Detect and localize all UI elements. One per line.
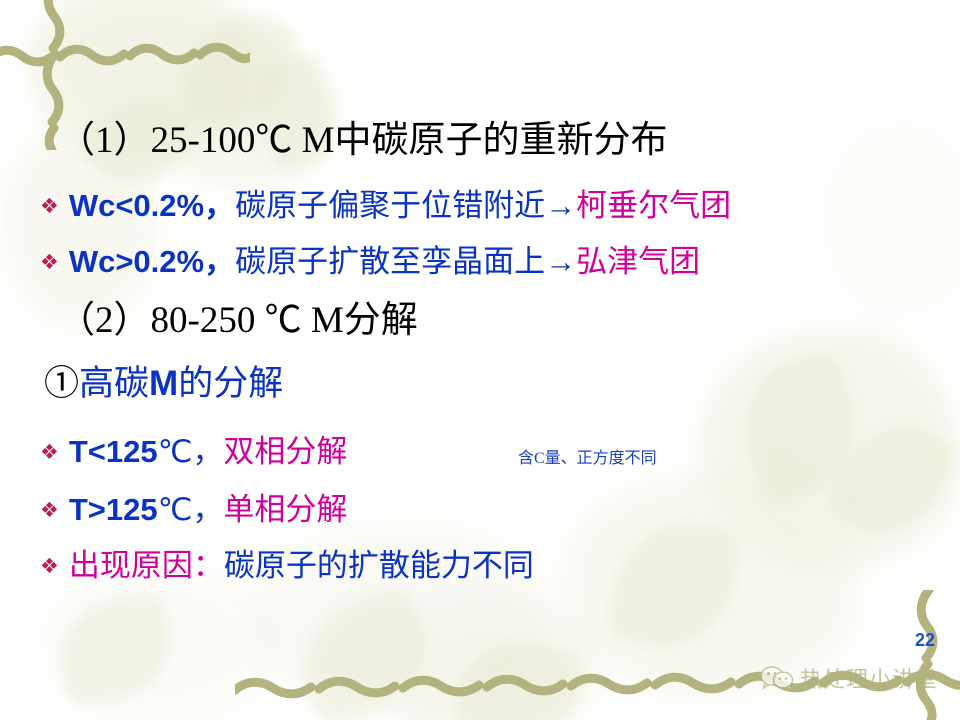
diamond-bullet-icon: ❖ xyxy=(40,442,59,463)
heading-section-2-text: （2）80-250 ℃ M分解 xyxy=(58,300,418,341)
bullet-label-t-less: T<125 xyxy=(69,436,158,467)
diamond-bullet-icon: ❖ xyxy=(40,252,59,273)
heading-subsection-1-text-a: 高碳 xyxy=(79,364,149,403)
bullet-body-wc-greater: 碳原子扩散至孪晶面上→ xyxy=(235,246,576,277)
watermark: 热处理小讲堂 xyxy=(760,662,938,694)
bullet-highlight-single-phase: 单相分解 xyxy=(223,494,347,525)
watercolor-blotch xyxy=(380,600,600,720)
bullet-highlight-hongjin: 弘津气团 xyxy=(576,246,700,277)
wechat-icon xyxy=(760,665,794,691)
floral-petal-shape xyxy=(729,348,870,507)
diamond-bullet-icon: ❖ xyxy=(40,556,59,577)
page-number: 22 xyxy=(915,630,935,651)
bullet-unit-t-less: ℃， xyxy=(158,436,224,467)
bullet-item-wc-less: ❖ Wc<0.2%， 碳原子偏聚于位错附近→ 柯垂尔气团 xyxy=(40,190,731,221)
diamond-bullet-icon: ❖ xyxy=(40,500,59,521)
floral-petal-shape xyxy=(605,511,746,660)
heading-section-2: （2）80-250 ℃ M分解 xyxy=(58,302,418,339)
heading-subsection-1: ①高碳M的分解 xyxy=(44,366,283,401)
bullet-body-wc-less: 碳原子偏聚于位错附近→ xyxy=(235,190,576,221)
side-note-carbon-content: 含C量、正方度不同 xyxy=(518,444,657,468)
watermark-text: 热处理小讲堂 xyxy=(800,662,938,694)
floral-petal-shape xyxy=(54,593,177,707)
diamond-bullet-icon: ❖ xyxy=(40,196,59,217)
bullet-highlight-dual-phase: 双相分解 xyxy=(223,436,347,467)
circled-number-1-icon: ① xyxy=(44,364,79,403)
floral-petal-shape xyxy=(451,629,589,720)
bullet-unit-t-greater: ℃， xyxy=(158,494,224,525)
heading-subsection-1-text-b: 的分解 xyxy=(178,364,283,403)
floral-petal-shape xyxy=(821,404,960,555)
bullet-label-wc-greater: Wc>0.2%， xyxy=(69,246,235,277)
heading-section-1: （1）25-100℃ M中碳原子的重新分布 xyxy=(58,122,667,159)
bullet-item-t-less: ❖ T<125 ℃， 双相分解 xyxy=(40,436,347,467)
watercolor-blotch xyxy=(150,40,340,190)
bullet-item-wc-greater: ❖ Wc>0.2%， 碳原子扩散至孪晶面上→ 弘津气团 xyxy=(40,246,700,277)
bullet-highlight-cottrell: 柯垂尔气团 xyxy=(576,190,731,221)
watercolor-blotch xyxy=(820,120,960,320)
bullet-body-reason: 碳原子的扩散能力不同 xyxy=(224,550,534,581)
watercolor-blotch xyxy=(40,560,280,720)
wavy-ribbon-right-vertical xyxy=(905,590,955,720)
floral-petal-shape xyxy=(285,581,445,720)
bullet-label-t-greater: T>125 xyxy=(69,494,158,525)
background-decoration xyxy=(0,0,960,720)
bullet-item-t-greater: ❖ T>125 ℃， 单相分解 xyxy=(40,494,347,525)
bullet-label-wc-less: Wc<0.2%， xyxy=(69,190,235,221)
wavy-ribbon-top-horizontal xyxy=(0,30,250,80)
bullet-label-reason: 出现原因： xyxy=(69,550,224,581)
heading-subsection-1-text-m: M xyxy=(149,364,178,403)
bullet-item-reason: ❖ 出现原因： 碳原子的扩散能力不同 xyxy=(40,550,534,581)
slide-canvas: （1）25-100℃ M中碳原子的重新分布 ❖ Wc<0.2%， 碳原子偏聚于位… xyxy=(0,0,960,720)
watercolor-blotch xyxy=(700,330,960,570)
heading-section-1-text: （1）25-100℃ M中碳原子的重新分布 xyxy=(58,120,667,161)
